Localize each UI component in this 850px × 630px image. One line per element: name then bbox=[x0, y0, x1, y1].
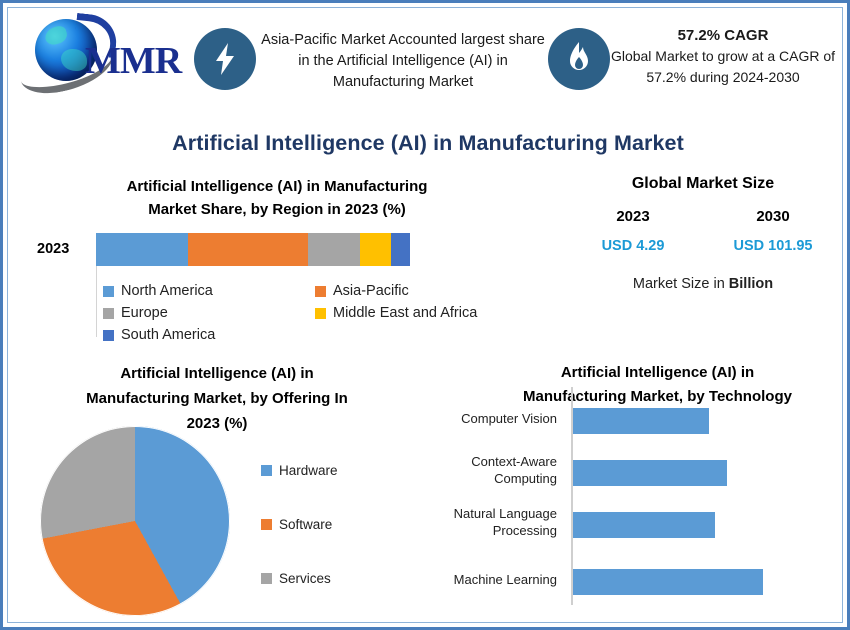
technology-bar-chart: Artificial Intelligence (AI) in Manufact… bbox=[423, 361, 843, 629]
region-legend-row: North America Asia-Pacific bbox=[103, 281, 513, 301]
pie-chart-title-line1: Artificial Intelligence (AI) in bbox=[27, 361, 407, 386]
tech-label-machine-learning: Machine Learning bbox=[397, 571, 557, 588]
tech-row: Natural LanguageProcessing bbox=[423, 509, 843, 539]
legend-item-services[interactable]: Services bbox=[261, 551, 338, 605]
cagr-headline: 57.2% CAGR bbox=[603, 25, 843, 46]
legend-item-software[interactable]: Software bbox=[261, 497, 338, 551]
region-legend-row: Europe Middle East and Africa bbox=[103, 303, 513, 323]
legend-item-south-america[interactable]: South America bbox=[103, 325, 315, 345]
tech-label-context-aware-computing: Context-AwareComputing bbox=[397, 453, 557, 487]
header: MMR Asia-Pacific Market Accounted larges… bbox=[3, 3, 850, 118]
legend-swatch-asia-pacific bbox=[315, 286, 326, 297]
legend-label-asia-pacific: Asia-Pacific bbox=[333, 281, 409, 301]
tech-row: Computer Vision bbox=[423, 405, 843, 435]
region-chart-title-line1: Artificial Intelligence (AI) in Manufact… bbox=[77, 175, 477, 198]
legend-swatch-north-america bbox=[103, 286, 114, 297]
region-segment-north-america bbox=[96, 233, 188, 266]
legend-item-middle-east-and-africa[interactable]: Middle East and Africa bbox=[315, 303, 477, 323]
legend-label-europe: Europe bbox=[121, 303, 168, 323]
pie-legend: Hardware Software Services bbox=[261, 443, 338, 605]
region-chart-title-line2: Market Share, by Region in 2023 (%) bbox=[77, 198, 477, 221]
cagr-subtext: Global Market to grow at a CAGR of 57.2%… bbox=[603, 46, 843, 88]
pie-chart-title: Artificial Intelligence (AI) in Manufact… bbox=[27, 361, 407, 436]
tech-chart-title-line1: Artificial Intelligence (AI) in bbox=[485, 361, 830, 385]
region-segment-south-america bbox=[391, 233, 410, 266]
region-chart-title: Artificial Intelligence (AI) in Manufact… bbox=[77, 175, 477, 221]
brand-name: MMR bbox=[85, 39, 181, 83]
legend-swatch-south-america bbox=[103, 330, 114, 341]
region-segment-asia-pacific bbox=[188, 233, 308, 266]
tech-label-computer-vision: Computer Vision bbox=[397, 410, 557, 427]
tech-bar-computer-vision bbox=[573, 408, 709, 434]
legend-label-software: Software bbox=[279, 517, 332, 532]
market-size-unit-prefix: Market Size in bbox=[633, 276, 729, 292]
tech-row: Machine Learning bbox=[423, 566, 843, 596]
market-size-unit-note: Market Size in Billion bbox=[563, 276, 843, 292]
market-size-year-2023: 2023 bbox=[563, 208, 703, 225]
region-segment-europe bbox=[308, 233, 360, 266]
region-legend-row: South America bbox=[103, 325, 513, 345]
global-market-size-title: Global Market Size bbox=[563, 175, 843, 193]
tech-label-natural-language-processing: Natural LanguageProcessing bbox=[397, 505, 557, 539]
global-market-size-years: 2023 2030 bbox=[563, 208, 843, 225]
legend-label-services: Services bbox=[279, 571, 331, 586]
tech-bar-natural-language-processing bbox=[573, 512, 715, 538]
tech-row: Context-AwareComputing bbox=[423, 457, 843, 487]
legend-label-south-america: South America bbox=[121, 325, 215, 345]
legend-swatch-middle-east-and-africa bbox=[315, 308, 326, 319]
market-size-value-2030: USD 101.95 bbox=[703, 238, 843, 254]
legend-label-north-america: North America bbox=[121, 281, 213, 301]
legend-item-hardware[interactable]: Hardware bbox=[261, 443, 338, 497]
pie-chart-title-line3: 2023 (%) bbox=[27, 411, 407, 436]
tech-bar-context-aware-computing bbox=[573, 460, 727, 486]
region-legend: North America Asia-Pacific Europe Middle… bbox=[103, 281, 513, 347]
legend-item-europe[interactable]: Europe bbox=[103, 303, 315, 323]
legend-label-middle-east-and-africa: Middle East and Africa bbox=[333, 303, 477, 323]
legend-swatch-europe bbox=[103, 308, 114, 319]
market-size-unit: Billion bbox=[729, 276, 773, 292]
global-market-size: Global Market Size 2023 2030 USD 4.29 US… bbox=[563, 175, 843, 292]
infographic-frame: MMR Asia-Pacific Market Accounted larges… bbox=[0, 0, 850, 630]
offering-share-chart: Artificial Intelligence (AI) in Manufact… bbox=[17, 361, 417, 629]
highlight-asia-pacific-text: Asia-Pacific Market Accounted largest sh… bbox=[259, 30, 547, 93]
tech-bar-machine-learning bbox=[573, 569, 763, 595]
market-size-value-2023: USD 4.29 bbox=[563, 238, 703, 254]
region-stacked-bar bbox=[96, 233, 410, 266]
market-size-year-2030: 2030 bbox=[703, 208, 843, 225]
legend-swatch-services bbox=[261, 573, 272, 584]
region-segment-middle-east-and-africa bbox=[360, 233, 391, 266]
pie-chart-title-line2: Manufacturing Market, by Offering In bbox=[27, 386, 407, 411]
page-title: Artificial Intelligence (AI) in Manufact… bbox=[3, 131, 850, 156]
legend-item-asia-pacific[interactable]: Asia-Pacific bbox=[315, 281, 409, 301]
mmr-logo: MMR bbox=[17, 13, 192, 91]
legend-swatch-software bbox=[261, 519, 272, 530]
legend-item-north-america[interactable]: North America bbox=[103, 281, 315, 301]
global-market-size-values: USD 4.29 USD 101.95 bbox=[563, 238, 843, 254]
region-category-label: 2023 bbox=[37, 241, 69, 257]
pie-chart bbox=[40, 426, 230, 616]
legend-swatch-hardware bbox=[261, 465, 272, 476]
flame-icon bbox=[548, 28, 610, 90]
legend-label-hardware: Hardware bbox=[279, 463, 338, 478]
cagr-highlight: 57.2% CAGR Global Market to grow at a CA… bbox=[603, 25, 843, 88]
lightning-bolt-icon bbox=[194, 28, 256, 90]
